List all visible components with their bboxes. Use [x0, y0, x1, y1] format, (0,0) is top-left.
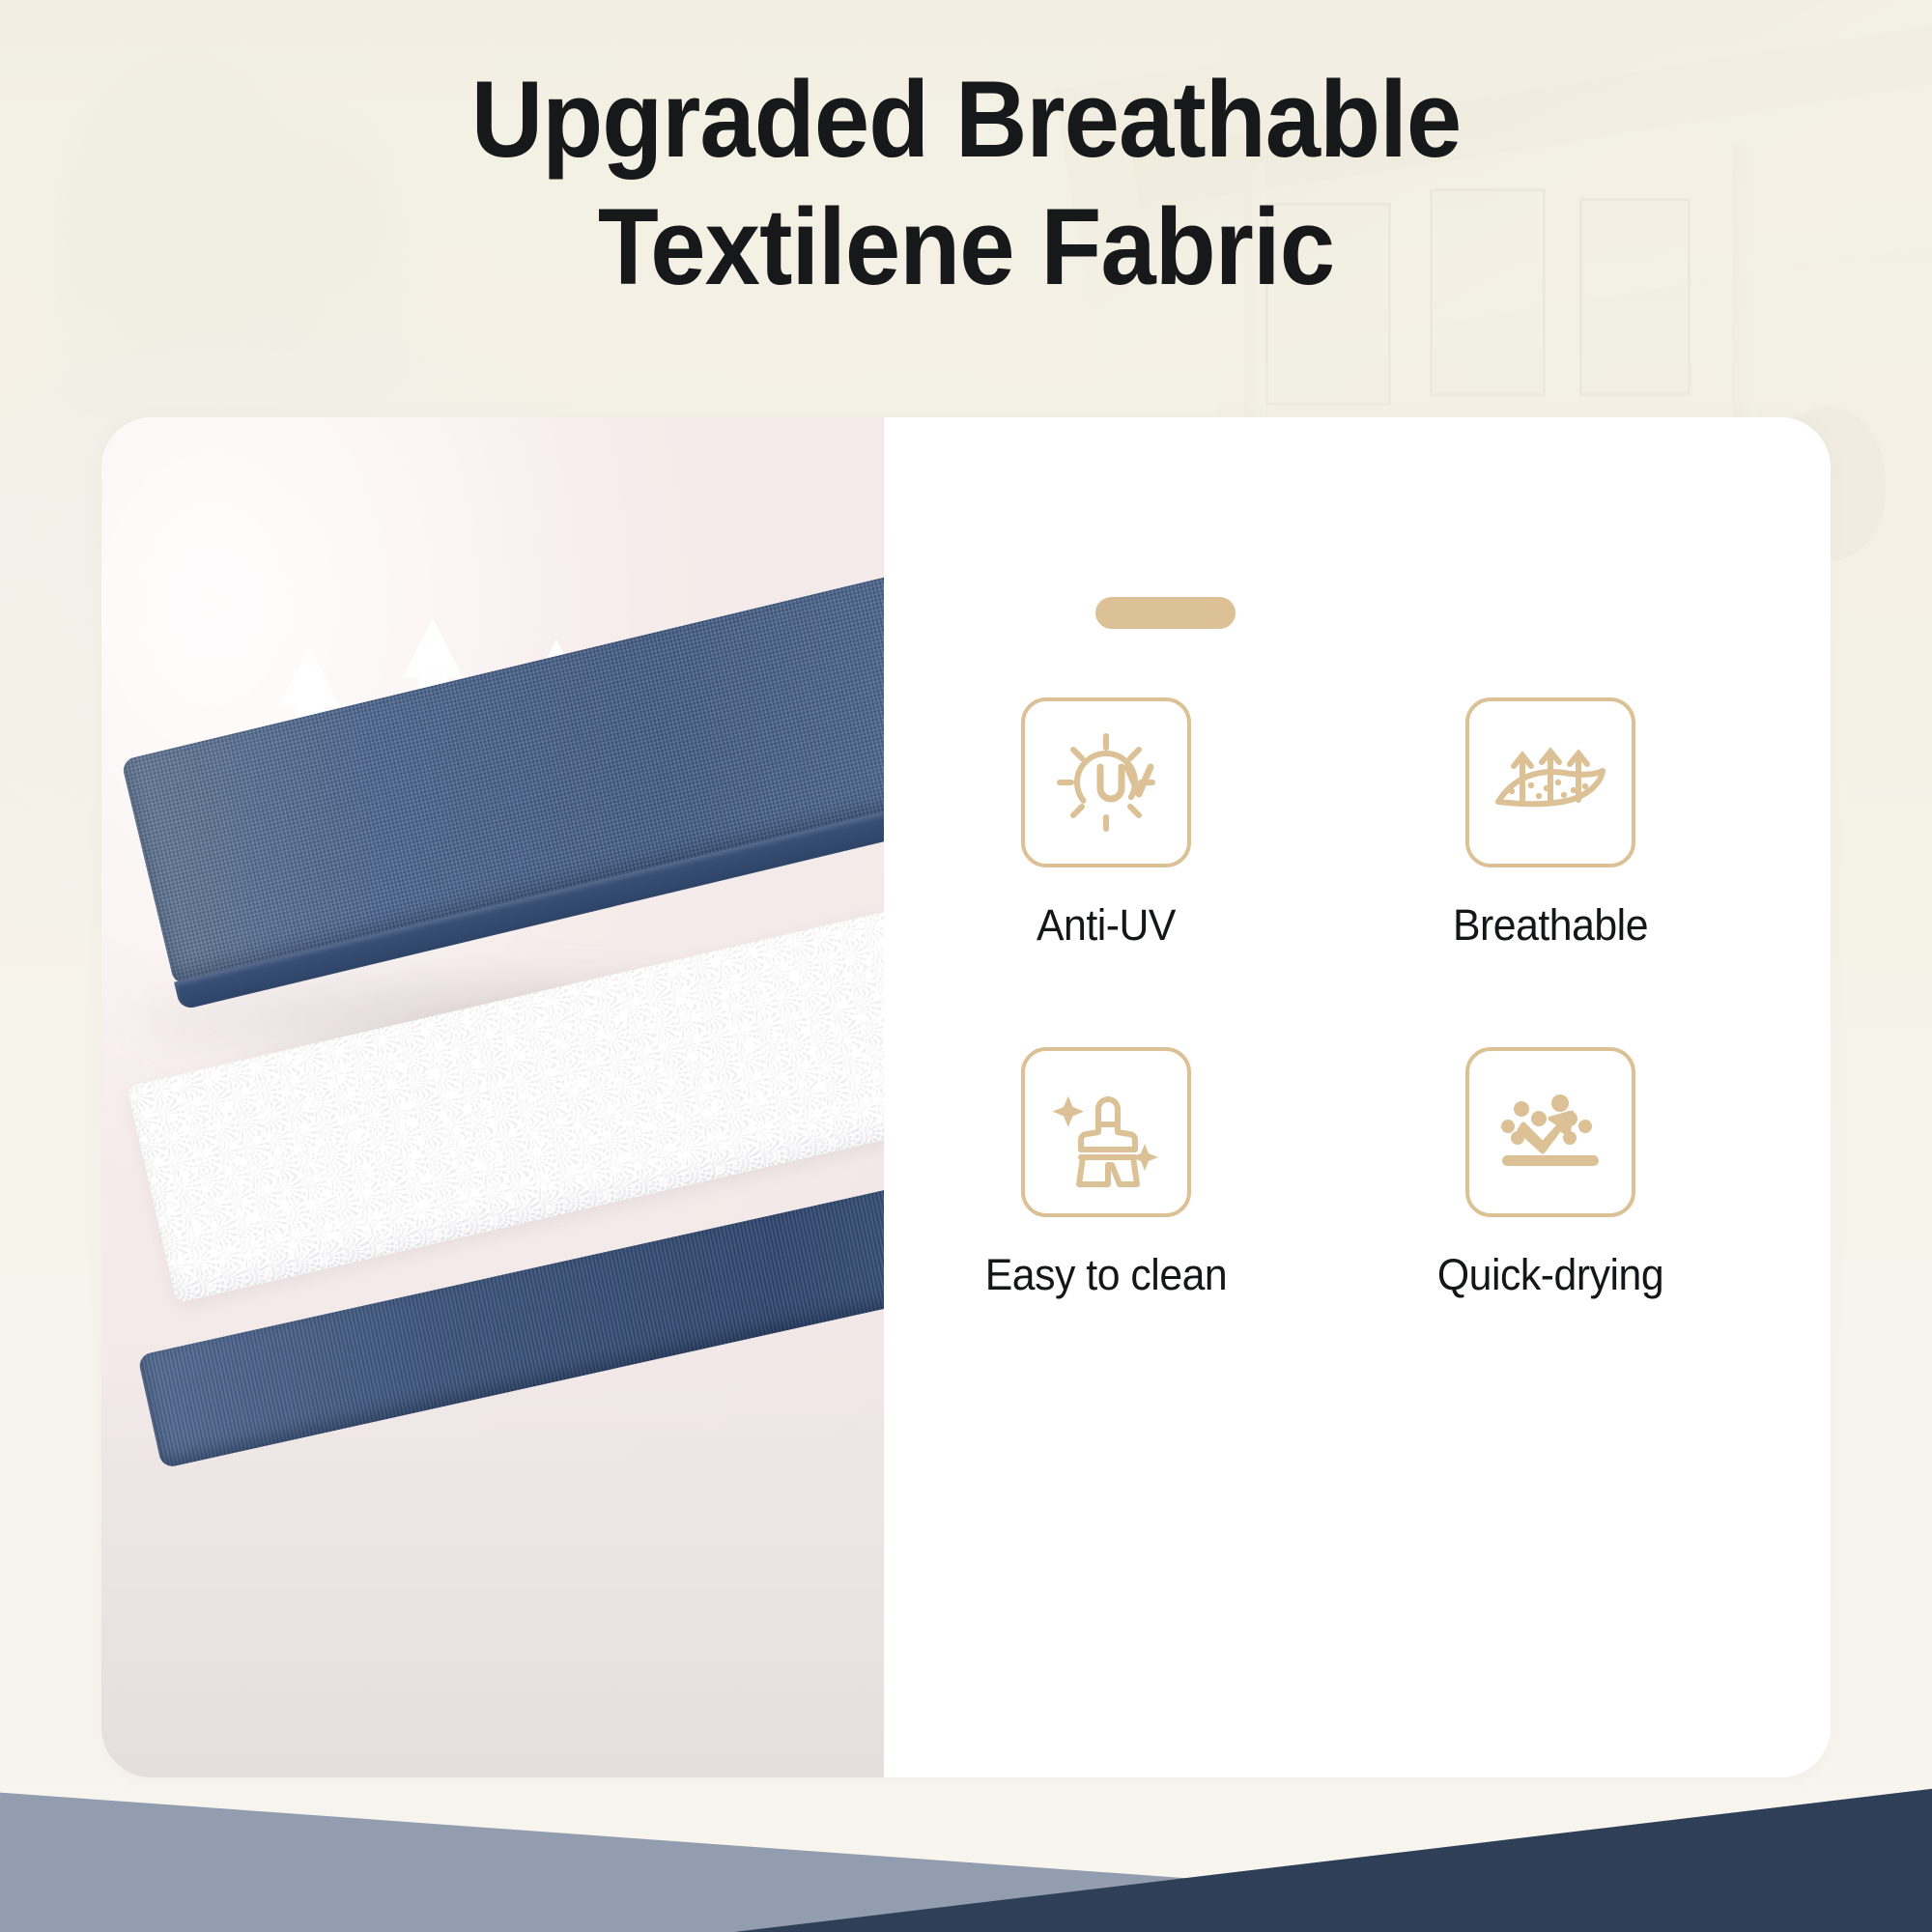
feature-easy-to-clean: Easy to clean	[932, 1047, 1280, 1300]
title-line-2: Textilene Fabric	[77, 184, 1855, 311]
feature-breathable: Breathable	[1377, 697, 1724, 951]
feature-label-easy-to-clean: Easy to clean	[941, 1250, 1271, 1300]
sun-uv-icon	[1044, 721, 1168, 844]
feature-quick-drying: Quick-drying	[1377, 1047, 1724, 1300]
fabric-airflow-icon	[1489, 721, 1612, 844]
easy-to-clean-icon-box	[1021, 1047, 1191, 1217]
feature-card: Anti-UV	[101, 417, 1831, 1777]
feature-panel: Anti-UV	[884, 417, 1831, 1777]
cleaning-brush-icon	[1044, 1070, 1168, 1194]
gold-accent-bar	[1095, 597, 1236, 629]
product-photo	[101, 417, 884, 1777]
feature-label-breathable: Breathable	[1385, 900, 1716, 951]
page-title: Upgraded Breathable Textilene Fabric	[77, 56, 1855, 311]
feature-anti-uv: Anti-UV	[932, 697, 1280, 951]
breathable-icon-box	[1465, 697, 1635, 867]
title-line-1: Upgraded Breathable	[471, 59, 1462, 180]
anti-uv-icon-box	[1021, 697, 1191, 867]
quick-drying-icon-box	[1465, 1047, 1635, 1217]
water-evaporation-arrow-icon	[1489, 1070, 1612, 1194]
feature-grid: Anti-UV	[884, 697, 1831, 1300]
feature-label-quick-drying: Quick-drying	[1385, 1250, 1716, 1300]
feature-label-anti-uv: Anti-UV	[941, 900, 1271, 951]
infographic-canvas: Upgraded Breathable Textilene Fabric	[0, 0, 1932, 1932]
